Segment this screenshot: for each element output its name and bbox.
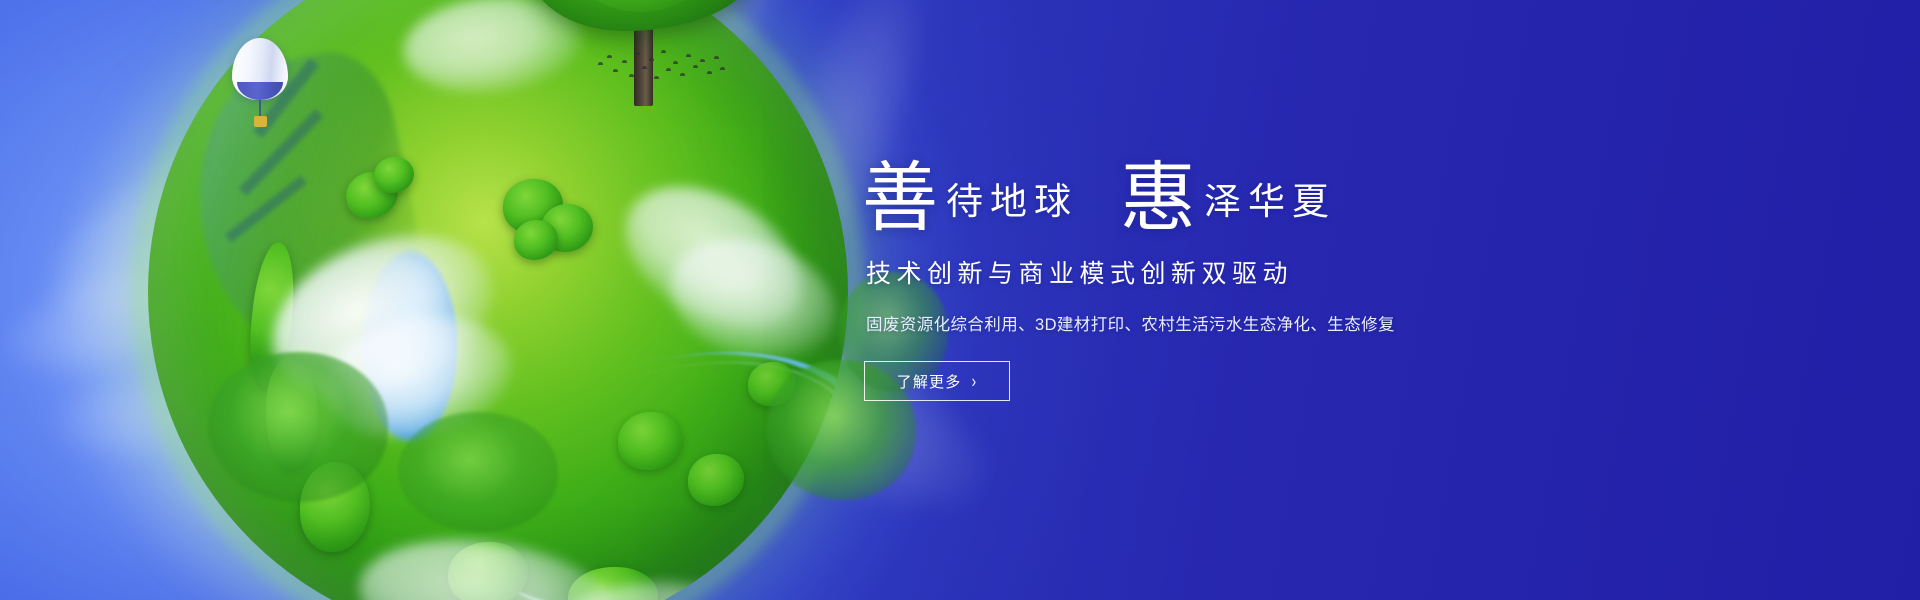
background-tree (208, 352, 388, 502)
tree-clump (514, 220, 558, 260)
hero-banner: 善 待地球 惠 泽华夏 技术创新与商业模式创新双驱动 固废资源化综合利用、3D建… (0, 0, 1920, 600)
learn-more-label: 了解更多 (897, 371, 962, 392)
hero-copy: 善 待地球 惠 泽华夏 技术创新与商业模式创新双驱动 固废资源化综合利用、3D建… (862, 136, 1482, 401)
background-tree (398, 412, 558, 532)
balloon-basket (254, 116, 267, 127)
description: 固废资源化综合利用、3D建材打印、农村生活污水生态净化、生态修复 (866, 311, 1482, 335)
headline-char-shan: 善 (862, 160, 938, 236)
subtitle: 技术创新与商业模式创新双驱动 (866, 254, 1482, 290)
headline-char-hui: 惠 (1120, 160, 1196, 236)
balloon-rope (259, 100, 261, 117)
birds-flock-icon (596, 48, 726, 90)
learn-more-button[interactable]: 了解更多 › (864, 361, 1010, 401)
hot-air-balloon-icon (232, 38, 288, 130)
headline: 善 待地球 惠 泽华夏 (862, 136, 1482, 232)
headline-rest-one: 待地球 (938, 183, 1078, 220)
chevron-right-icon: › (971, 372, 977, 391)
balloon-stripe (237, 82, 283, 100)
headline-rest-two: 泽华夏 (1196, 183, 1336, 220)
